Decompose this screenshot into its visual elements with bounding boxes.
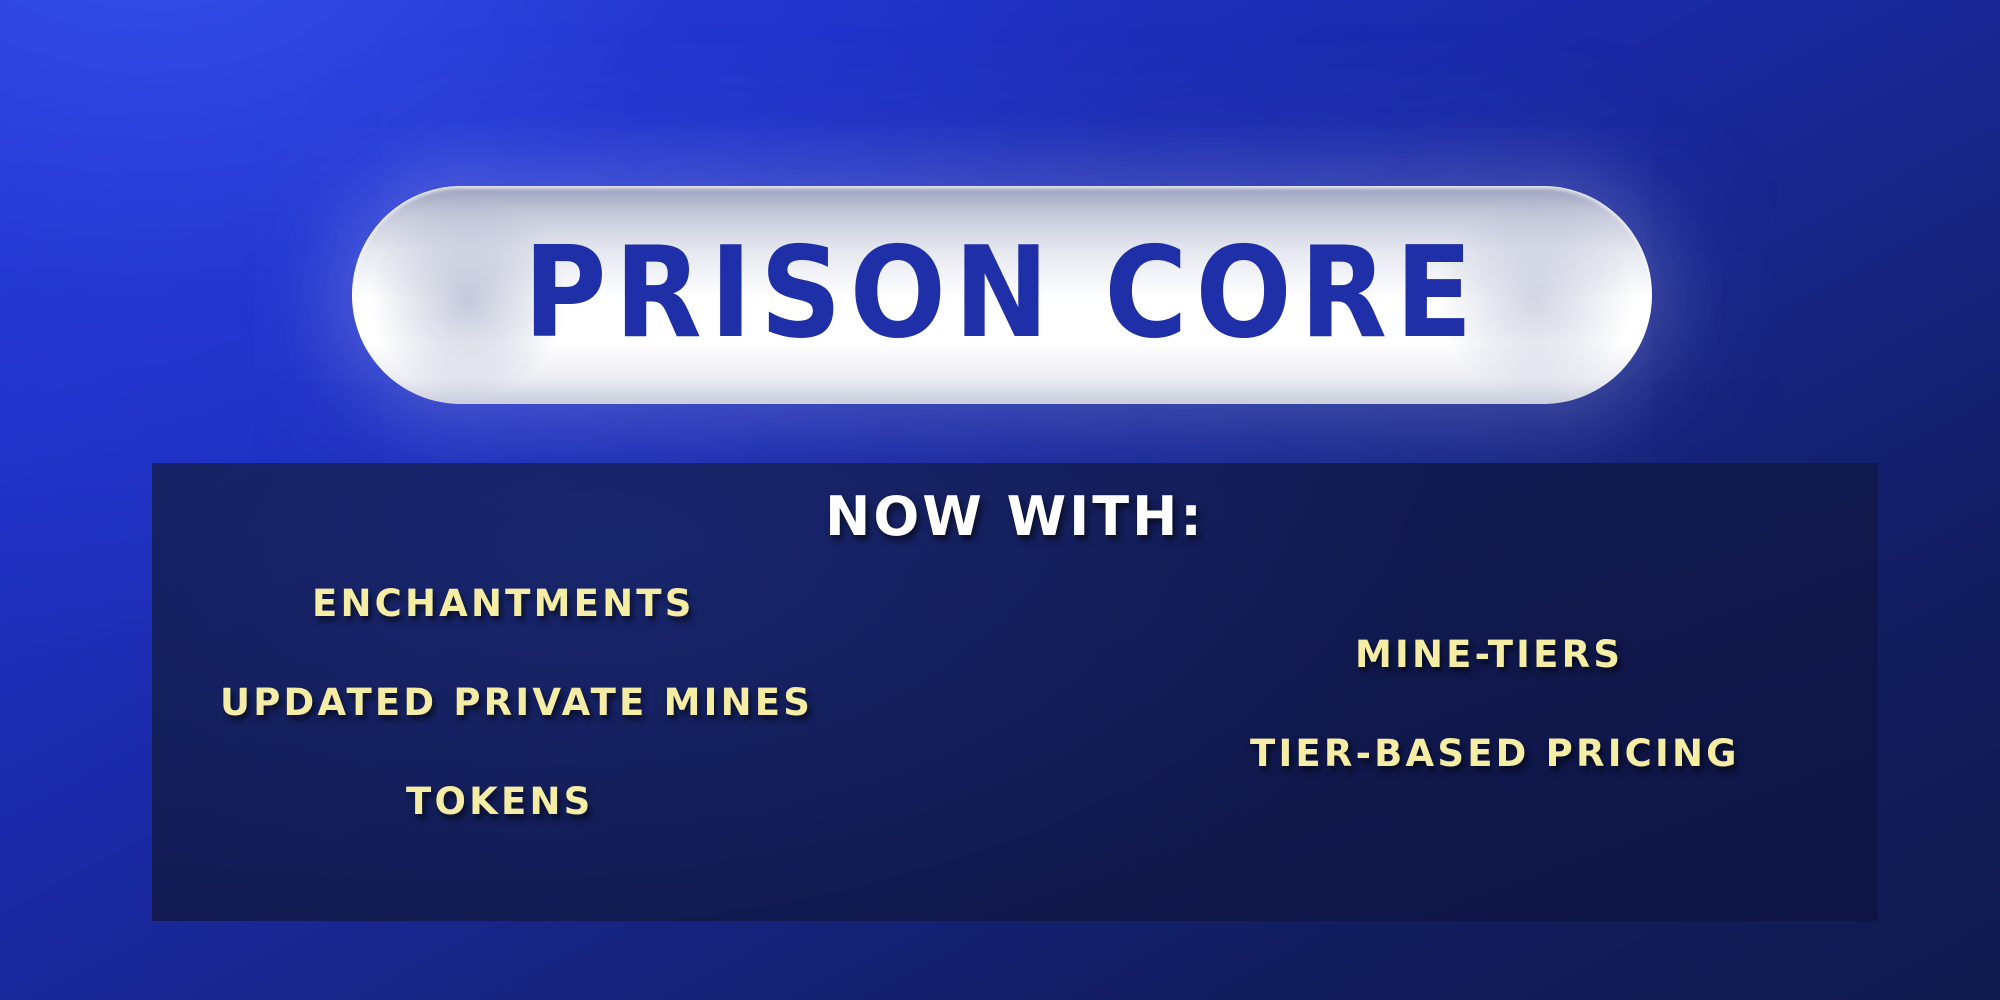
title-pill-container: PRISON CORE bbox=[352, 186, 1652, 404]
feature-item-tokens: TOKENS bbox=[406, 780, 593, 823]
promo-banner: PRISON CORE NOW WITH: ENCHANTMENTS UPDAT… bbox=[0, 0, 2000, 1000]
page-title: PRISON CORE bbox=[523, 230, 1480, 356]
feature-item-updated-private-mines: UPDATED PRIVATE MINES bbox=[220, 681, 813, 724]
feature-item-mine-tiers: MINE-TIERS bbox=[1355, 633, 1623, 676]
feature-item-enchantments: ENCHANTMENTS bbox=[312, 582, 695, 625]
title-pill: PRISON CORE bbox=[352, 186, 1652, 404]
features-heading: NOW WITH: bbox=[152, 485, 1878, 548]
feature-item-tier-based-pricing: TIER-BASED PRICING bbox=[1250, 732, 1740, 775]
